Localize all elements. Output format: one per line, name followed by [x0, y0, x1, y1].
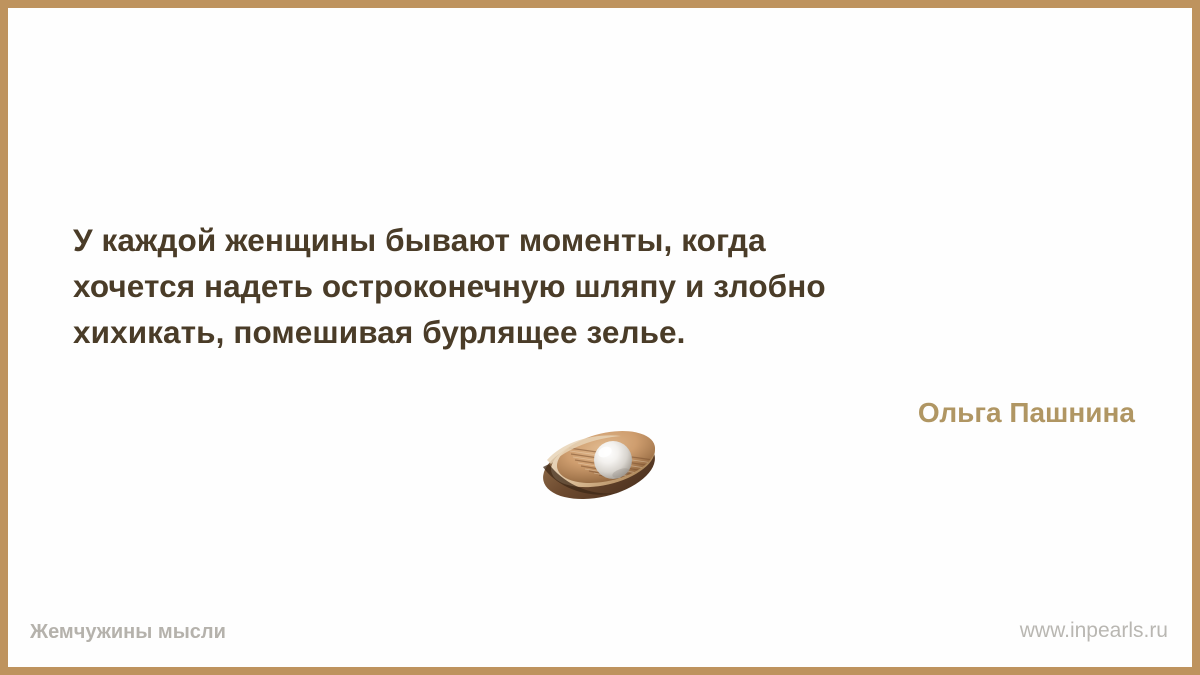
quote-author: Ольга Пашнина [918, 396, 1135, 430]
site-url[interactable]: www.inpearls.ru [1020, 619, 1168, 643]
shell-with-pearl-icon [535, 424, 675, 504]
quote-text-block: У каждой женщины бывают моменты, когда х… [73, 217, 1143, 355]
quote-line-1: У каждой женщины бывают моменты, когда [73, 217, 1143, 263]
quote-line-2: хочется надеть остроконечную шляпу и зло… [73, 263, 1143, 309]
site-name: Жемчужины мысли [30, 620, 226, 644]
quote-line-3: хихикать, помешивая бурлящее зелье. [73, 309, 1143, 355]
quote-card: У каждой женщины бывают моменты, когда х… [0, 0, 1200, 675]
